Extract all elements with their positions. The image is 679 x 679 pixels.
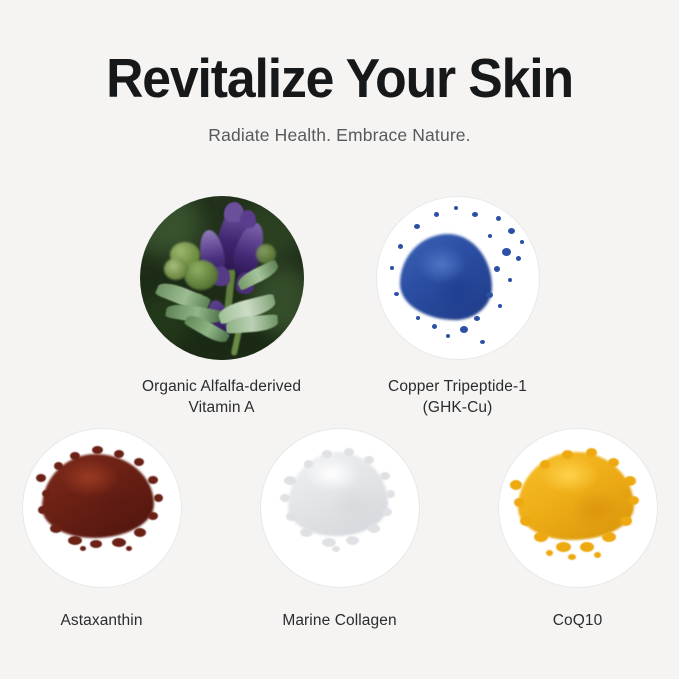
red-powder-image xyxy=(22,428,182,588)
blue-powder-image xyxy=(376,196,540,360)
ingredient-card-astaxanthin[interactable]: Astaxanthin xyxy=(2,428,202,631)
powder-mound xyxy=(400,234,492,320)
ingredient-label-coq10: CoQ10 xyxy=(478,610,678,631)
ingredient-card-alfalfa[interactable]: Organic Alfalfa-derived Vitamin A xyxy=(122,196,322,418)
ingredient-row-top: Organic Alfalfa-derived Vitamin A xyxy=(0,196,679,418)
ingredient-label-astaxanthin: Astaxanthin xyxy=(2,610,202,631)
page-title: Revitalize Your Skin xyxy=(20,48,658,108)
page-subtitle: Radiate Health. Embrace Nature. xyxy=(0,124,679,146)
ingredient-label-marine-collagen: Marine Collagen xyxy=(240,610,440,631)
ingredient-label-alfalfa: Organic Alfalfa-derived Vitamin A xyxy=(122,376,322,418)
ingredient-card-coq10[interactable]: CoQ10 xyxy=(478,428,678,631)
ingredient-card-marine-collagen[interactable]: Marine Collagen xyxy=(240,428,440,631)
yellow-powder-image xyxy=(498,428,658,588)
alfalfa-plant-image xyxy=(140,196,304,360)
white-powder-image xyxy=(260,428,420,588)
ingredient-row-bottom: Astaxanthin Marine C xyxy=(0,428,679,631)
header: Revitalize Your Skin Radiate Health. Emb… xyxy=(0,48,679,146)
ingredient-label-copper-tripeptide: Copper Tripeptide-1 (GHK-Cu) xyxy=(358,376,558,418)
ingredient-showcase-page: Revitalize Your Skin Radiate Health. Emb… xyxy=(0,0,679,679)
ingredient-card-copper-tripeptide[interactable]: Copper Tripeptide-1 (GHK-Cu) xyxy=(358,196,558,418)
